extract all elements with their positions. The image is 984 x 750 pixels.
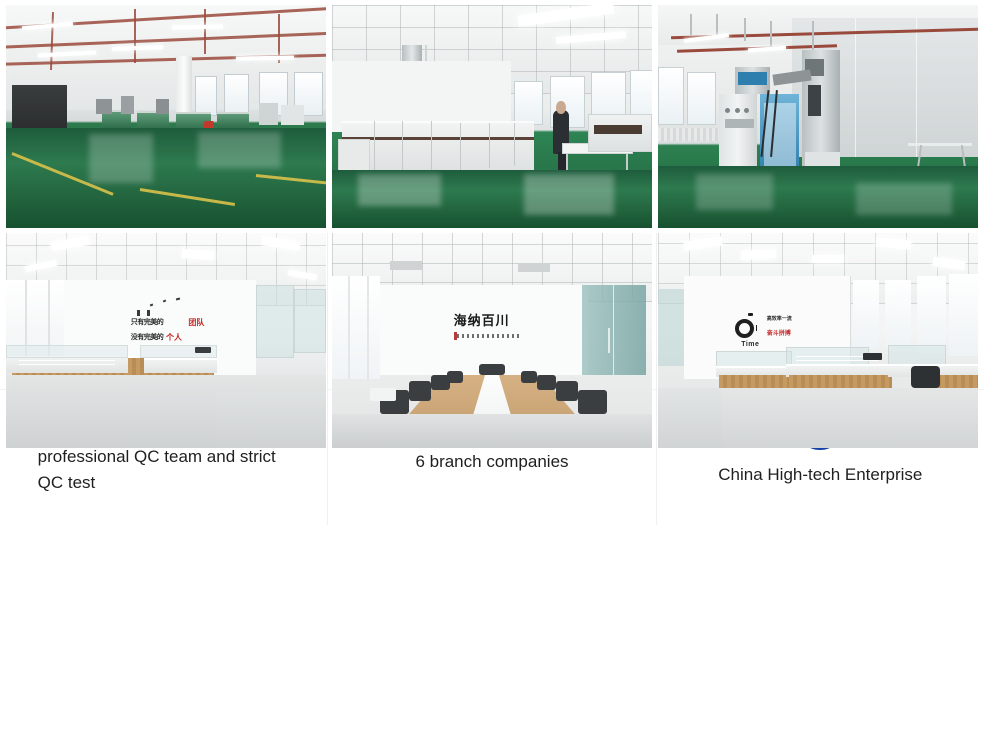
sales-slogan-black: 高效率一流	[767, 315, 792, 322]
top-photo-row	[0, 0, 984, 228]
bottom-photo-row: 只有完美的 团队 没有完美的 个人	[0, 228, 984, 448]
stopwatch-label: Time	[741, 341, 759, 348]
stat-description: China High-tech Enterprise	[718, 462, 922, 488]
sales-slogan-red: 奋斗拼搏	[767, 328, 791, 337]
wall-slogan-black: 只有完美的	[131, 317, 164, 327]
testing-equipment-room-photo	[658, 5, 978, 228]
stat-description: 6 branch companies	[415, 449, 568, 475]
conference-room-photo: 海纳百川	[332, 233, 652, 448]
wall-slogan-red: 团队	[188, 317, 204, 328]
wall-slogan-red-2: 个人	[166, 332, 182, 343]
stopwatch-icon	[735, 319, 754, 338]
stat-description: professional QC team and strict QC test	[38, 444, 290, 495]
wall-calligraphy: 海纳百川	[454, 310, 510, 329]
open-plan-office-photo: 只有完美的 团队 没有完美的 个人	[6, 233, 326, 448]
company-profile-infographic: 8 8 product categories 1,00 + Exported t…	[0, 0, 984, 750]
factory-production-floor-photo	[6, 5, 326, 228]
sales-office-photo: 奋斗拼搏 高效率一流 Time	[658, 233, 978, 448]
reflow-soldering-line-photo	[332, 5, 652, 228]
wall-slogan-black-2: 没有完美的	[131, 332, 164, 342]
